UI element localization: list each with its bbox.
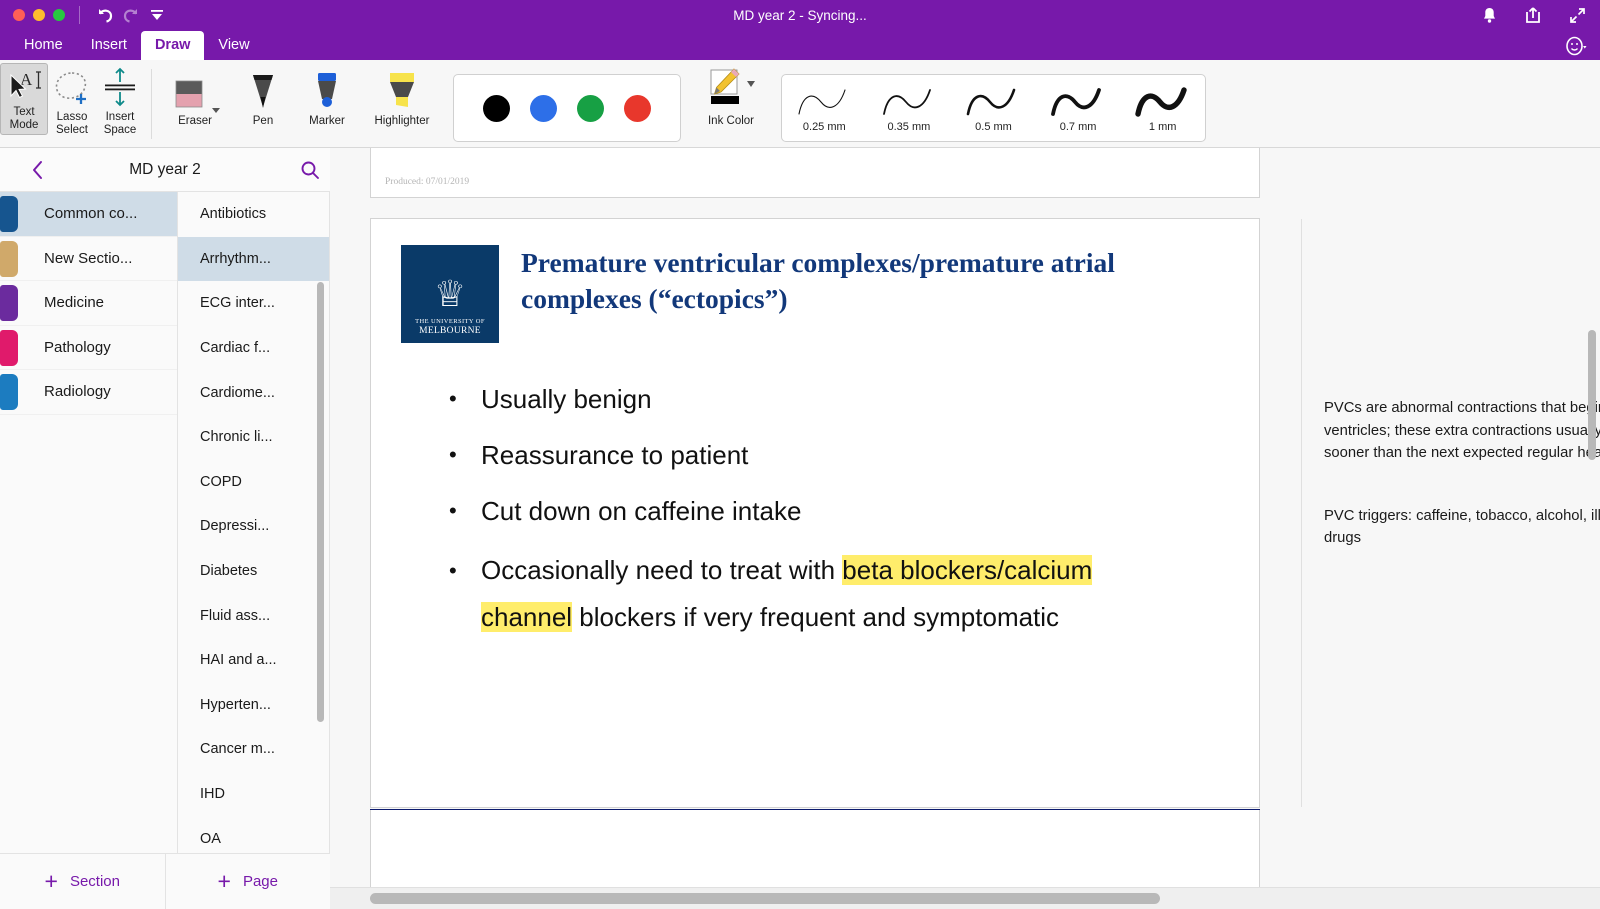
- annotation-paragraph: PVC triggers: caffeine, tobacco, alcohol…: [1324, 505, 1600, 550]
- canvas-horizontal-scrollbar[interactable]: [370, 893, 1160, 904]
- eraser-icon: [170, 63, 220, 115]
- page-label: HAI and a...: [200, 652, 277, 668]
- text-mode-button[interactable]: A Text Mode: [0, 63, 48, 135]
- eraser-dropdown-caret-icon[interactable]: [212, 108, 220, 113]
- page-item-ihd[interactable]: IHD: [178, 772, 329, 817]
- page-label: Cardiac f...: [200, 340, 270, 356]
- page-label: Cancer m...: [200, 741, 275, 757]
- highlighter-label: Highlighter: [375, 115, 430, 127]
- page-item-hypertension[interactable]: Hyperten...: [178, 683, 329, 728]
- ink-color-button[interactable]: Ink Color: [695, 63, 767, 147]
- marker-label: Marker: [309, 115, 345, 127]
- page-item-oa[interactable]: OA: [178, 816, 329, 853]
- highlighter-button[interactable]: Highlighter: [359, 63, 445, 147]
- add-section-label: Section: [70, 873, 120, 890]
- undo-icon[interactable]: [92, 2, 118, 28]
- canvas-horizontal-scroll-track: [330, 887, 1600, 909]
- feedback-smiley-icon[interactable]: [1564, 34, 1588, 58]
- eraser-label: Eraser: [178, 115, 212, 127]
- page-item-chronic-liver[interactable]: Chronic li...: [178, 415, 329, 460]
- notifications-icon[interactable]: [1476, 2, 1502, 28]
- pen-button[interactable]: Pen: [231, 63, 295, 147]
- current-slide[interactable]: ♕ THE UNIVERSITY OF MELBOURNE Premature …: [370, 218, 1260, 808]
- page-item-cardiomegaly[interactable]: Cardiome...: [178, 370, 329, 415]
- bullet-item: Reassurance to patient: [449, 427, 1229, 483]
- page-item-hai[interactable]: HAI and a...: [178, 638, 329, 683]
- page-item-diabetes[interactable]: Diabetes: [178, 549, 329, 594]
- tab-insert[interactable]: Insert: [77, 31, 141, 60]
- section-item-pathology[interactable]: Pathology: [0, 326, 177, 371]
- ribbon-tab-bar: Home Insert Draw View: [0, 30, 1600, 60]
- bullet-text-post: blockers if very frequent and symptomati…: [572, 602, 1059, 632]
- ink-color-pencil-icon: [705, 63, 757, 115]
- page-list-scrollbar[interactable]: [317, 282, 324, 722]
- thickness-option-1mm[interactable]: 1 mm: [1126, 78, 1200, 138]
- slide-title: Premature ventricular complexes/prematur…: [521, 245, 1229, 317]
- thickness-label-1: 0.35 mm: [887, 121, 930, 133]
- insert-space-button[interactable]: Insert Space: [96, 63, 144, 147]
- canvas-vertical-scrollbar[interactable]: [1588, 330, 1596, 460]
- marker-icon: [310, 63, 344, 115]
- bullet-item-highlighted: Occasionally need to treat with beta blo…: [449, 547, 1149, 641]
- slide-footer-produced: Produced: 07/01/2019: [385, 177, 469, 187]
- eraser-button[interactable]: Eraser: [159, 63, 231, 147]
- page-label: Cardiome...: [200, 385, 275, 401]
- notebook-nav-header: MD year 2: [0, 148, 330, 192]
- page-item-cancer-management[interactable]: Cancer m...: [178, 727, 329, 772]
- lasso-select-button[interactable]: Lasso Select: [48, 63, 96, 147]
- close-window-button[interactable]: [13, 9, 25, 21]
- pen-tools-group: Eraser Pen: [159, 60, 445, 148]
- page-item-arrhythmias[interactable]: Arrhythm...: [178, 237, 329, 282]
- thickness-option-0-5mm[interactable]: 0.5 mm: [956, 78, 1030, 138]
- bullet-item: Usually benign: [449, 371, 1229, 427]
- notebook-title: MD year 2: [40, 161, 290, 179]
- thickness-option-0-35mm[interactable]: 0.35 mm: [872, 78, 946, 138]
- color-swatch-blue[interactable]: [530, 95, 557, 122]
- window-title: MD year 2 - Syncing...: [0, 8, 1600, 23]
- ribbon-group-divider-1: [151, 69, 152, 139]
- annotation-divider: [1301, 219, 1302, 807]
- section-color-tab: [0, 374, 18, 410]
- annotation-paragraph: PVCs are abnormal contractions that begi…: [1324, 397, 1600, 465]
- section-color-tab: [0, 330, 18, 366]
- section-color-tab: [0, 196, 18, 232]
- mode-tools-group: A Text Mode Lasso Select: [0, 60, 144, 148]
- page-label: Depressi...: [200, 518, 269, 534]
- page-label: Chronic li...: [200, 429, 273, 445]
- page-label: COPD: [200, 474, 242, 490]
- lasso-select-label-line2: Select: [56, 124, 88, 137]
- thickness-option-0-7mm[interactable]: 0.7 mm: [1041, 78, 1115, 138]
- draw-ribbon: A Text Mode Lasso Select: [0, 60, 1600, 148]
- tab-view[interactable]: View: [204, 31, 263, 60]
- title-bar-actions: [1476, 0, 1590, 30]
- tab-draw[interactable]: Draw: [141, 31, 204, 60]
- page-label: ECG inter...: [200, 295, 275, 311]
- pen-icon: [246, 63, 280, 115]
- text-mode-label-line2: Mode: [10, 119, 39, 132]
- customize-toolbar-icon[interactable]: [144, 2, 170, 28]
- text-mode-label-line1: Text: [13, 106, 34, 119]
- onenote-window: MD year 2 - Syncing... Home Insert Draw …: [0, 0, 1600, 909]
- page-label: Fluid ass...: [200, 608, 270, 624]
- section-item-common-conditions[interactable]: Common co...: [0, 192, 177, 237]
- add-page-label: Page: [243, 873, 278, 890]
- section-color-tab: [0, 285, 18, 321]
- section-label: Pathology: [44, 339, 111, 356]
- section-color-tab: [0, 241, 18, 277]
- thickness-label-4: 1 mm: [1149, 121, 1177, 133]
- search-icon[interactable]: [290, 160, 330, 180]
- add-page-button[interactable]: + Page: [166, 854, 331, 909]
- page-label: Arrhythm...: [200, 251, 271, 267]
- bullet-text-pre: Occasionally need to treat with: [481, 555, 842, 585]
- pen-thickness-gallery: 0.25 mm 0.35 mm 0.5 mm 0.7 mm 1 mm: [781, 74, 1206, 142]
- insert-space-label-line2: Space: [104, 124, 137, 137]
- color-swatch-green[interactable]: [577, 95, 604, 122]
- text-mode-cursor-icon: A: [3, 64, 45, 106]
- section-label: Common co...: [44, 205, 137, 222]
- page-item-ecg-interpretation[interactable]: ECG inter...: [178, 281, 329, 326]
- window-controls[interactable]: [13, 9, 65, 21]
- previous-slide-fragment[interactable]: Produced: 07/01/2019: [370, 148, 1260, 198]
- marker-button[interactable]: Marker: [295, 63, 359, 147]
- slide-header: ♕ THE UNIVERSITY OF MELBOURNE Premature …: [401, 245, 1229, 343]
- university-logo: ♕ THE UNIVERSITY OF MELBOURNE: [401, 245, 499, 343]
- page-label: Antibiotics: [200, 206, 266, 222]
- page-item-depression[interactable]: Depressi...: [178, 504, 329, 549]
- add-section-button[interactable]: + Section: [0, 854, 165, 909]
- thickness-label-0: 0.25 mm: [803, 121, 846, 133]
- ink-color-label: Ink Color: [708, 115, 754, 127]
- highlighter-icon: [383, 63, 421, 115]
- fullscreen-icon[interactable]: [1564, 2, 1590, 28]
- tab-home[interactable]: Home: [10, 31, 77, 60]
- lasso-select-icon: [50, 63, 94, 111]
- page-item-copd[interactable]: COPD: [178, 460, 329, 505]
- section-label: Radiology: [44, 383, 111, 400]
- logo-line2: MELBOURNE: [419, 326, 481, 336]
- slide-bullet-list: Usually benign Reassurance to patient Cu…: [401, 371, 1229, 641]
- page-label: OA: [200, 831, 221, 847]
- plus-icon: +: [45, 870, 58, 893]
- note-canvas[interactable]: Produced: 07/01/2019 ♕ THE UNIVERSITY OF…: [330, 148, 1600, 909]
- thickness-label-2: 0.5 mm: [975, 121, 1012, 133]
- color-swatch-red[interactable]: [624, 95, 651, 122]
- section-item-radiology[interactable]: Radiology: [0, 370, 177, 415]
- page-label: IHD: [200, 786, 225, 802]
- zoom-window-button[interactable]: [53, 9, 65, 21]
- page-label: Hyperten...: [200, 697, 271, 713]
- page-item-antibiotics[interactable]: Antibiotics: [178, 192, 329, 237]
- insert-space-label-line1: Insert: [106, 111, 135, 124]
- thickness-label-3: 0.7 mm: [1060, 121, 1097, 133]
- insert-space-icon: [99, 63, 141, 111]
- thickness-option-0-25mm[interactable]: 0.25 mm: [787, 78, 861, 138]
- redo-icon[interactable]: [118, 2, 144, 28]
- lasso-select-label-line1: Lasso: [57, 111, 88, 124]
- bullet-item: Cut down on caffeine intake: [449, 483, 1229, 539]
- title-bar: MD year 2 - Syncing...: [0, 0, 1600, 30]
- add-bar: + Section + Page: [0, 853, 330, 909]
- minimize-window-button[interactable]: [33, 9, 45, 21]
- page-label: Diabetes: [200, 563, 257, 579]
- plus-icon: +: [218, 870, 231, 893]
- logo-crest-icon: ♕: [434, 274, 466, 314]
- annotation-panel[interactable]: PVCs are abnormal contractions that begi…: [1324, 397, 1600, 550]
- color-swatch-black[interactable]: [483, 95, 510, 122]
- section-label: New Sectio...: [44, 250, 132, 267]
- section-label: Medicine: [44, 294, 104, 311]
- section-list[interactable]: Common co... New Sectio... Medicine Path…: [0, 192, 178, 853]
- ink-color-palette: [453, 74, 681, 142]
- page-item-cardiac-failure[interactable]: Cardiac f...: [178, 326, 329, 371]
- page-item-fluid-assessment[interactable]: Fluid ass...: [178, 593, 329, 638]
- share-icon[interactable]: [1520, 2, 1546, 28]
- toolbar-divider: [79, 6, 80, 24]
- page-list[interactable]: Antibiotics Arrhythm... ECG inter... Car…: [178, 192, 330, 853]
- section-item-new-section[interactable]: New Sectio...: [0, 237, 177, 282]
- section-item-medicine[interactable]: Medicine: [0, 281, 177, 326]
- logo-line1: THE UNIVERSITY OF: [415, 318, 485, 325]
- pen-label: Pen: [253, 115, 273, 127]
